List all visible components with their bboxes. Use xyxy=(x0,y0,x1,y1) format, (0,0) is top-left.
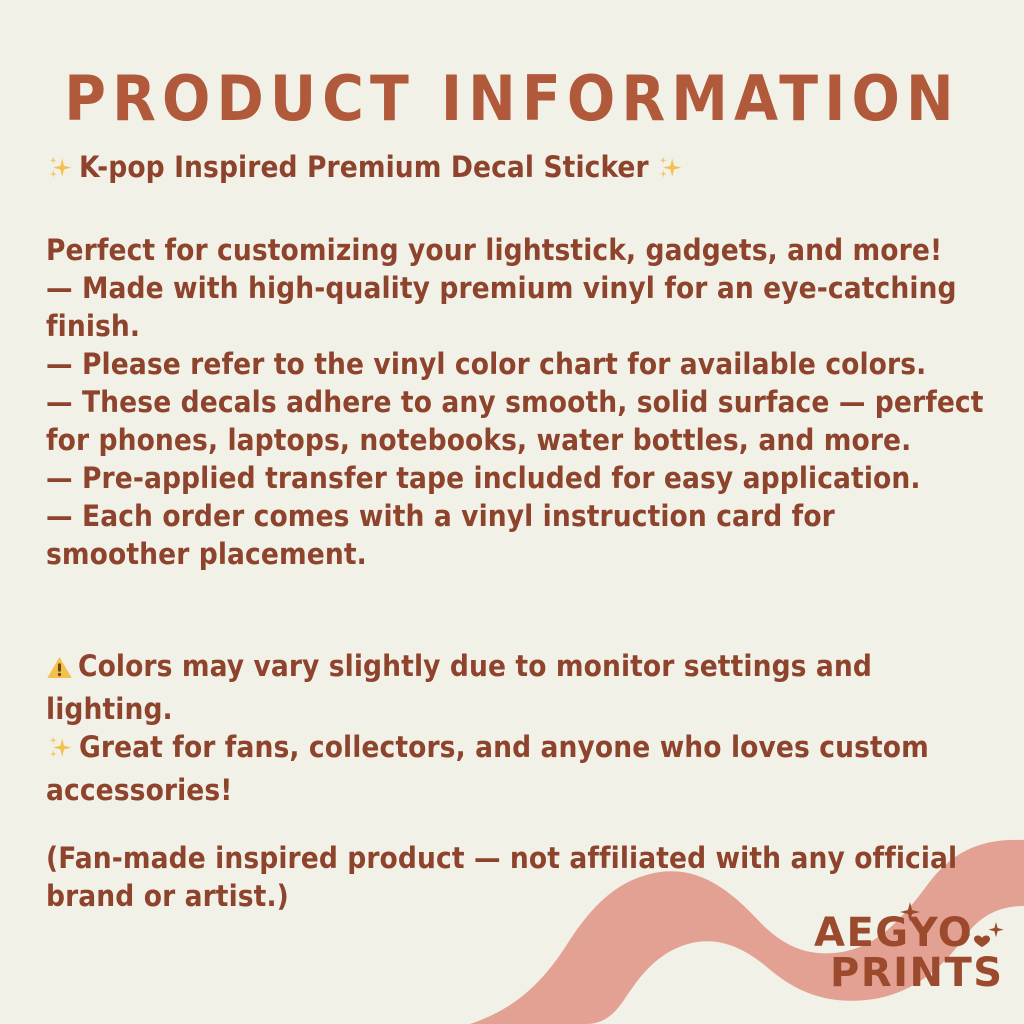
spacer xyxy=(46,191,986,231)
spacer xyxy=(46,809,986,839)
sparkles-icon xyxy=(46,153,74,191)
note-item: Colors may vary slightly due to monitor … xyxy=(46,647,986,728)
intro-line: K-pop Inspired Premium Decal Sticker xyxy=(46,148,986,191)
intro-text: K-pop Inspired Premium Decal Sticker xyxy=(79,150,649,184)
sparkle-icon xyxy=(988,922,1003,937)
details-block: Perfect for customizing your lightstick,… xyxy=(46,231,986,573)
note-item: Great for fans, collectors, and anyone w… xyxy=(46,728,986,809)
heart-icon xyxy=(974,935,990,947)
product-description: K-pop Inspired Premium Decal Sticker Per… xyxy=(46,148,986,915)
logo-line-2: PRINTS xyxy=(830,950,1004,996)
note-text: Great for fans, collectors, and anyone w… xyxy=(46,730,929,807)
details-lead: Perfect for customizing your lightstick,… xyxy=(46,231,986,269)
product-information-card: PRODUCT INFORMATION K-pop Inspired Premi… xyxy=(0,0,1024,1024)
brand-logo: AEGYO PRINTS xyxy=(806,900,1006,996)
detail-bullet: — Each order comes with a vinyl instruct… xyxy=(46,497,986,573)
note-text: Colors may vary slightly due to monitor … xyxy=(46,649,872,726)
notes-block: Colors may vary slightly due to monitor … xyxy=(46,647,986,809)
detail-bullet: — Pre-applied transfer tape included for… xyxy=(46,459,986,497)
spacer xyxy=(46,573,986,647)
detail-bullet: — Made with high-quality premium vinyl f… xyxy=(46,269,986,345)
warning-icon xyxy=(46,652,73,690)
sparkles-icon xyxy=(46,733,74,771)
page-title: PRODUCT INFORMATION xyxy=(0,62,1024,135)
detail-bullet: — These decals adhere to any smooth, sol… xyxy=(46,383,986,459)
detail-bullet: — Please refer to the vinyl color chart … xyxy=(46,345,986,383)
sparkles-icon xyxy=(656,153,684,191)
